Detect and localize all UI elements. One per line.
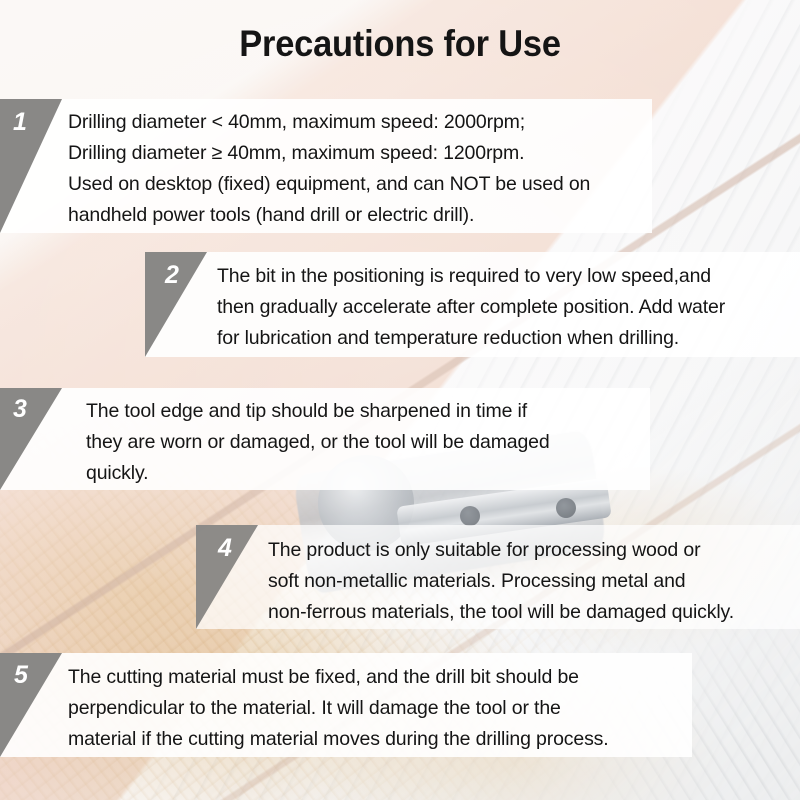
step-number-badge-2: 2 xyxy=(145,252,207,357)
precaution-text-1: Drilling diameter < 40mm, maximum speed:… xyxy=(68,107,646,231)
step-number-label: 5 xyxy=(14,660,28,690)
step-number-label: 1 xyxy=(13,107,27,137)
triangle-shape xyxy=(0,653,62,757)
precaution-text-3: The tool edge and tip should be sharpene… xyxy=(86,396,638,489)
precaution-item-3: 3 The tool edge and tip should be sharpe… xyxy=(0,388,650,490)
precautions-infographic: Precautions for Use 1 Drilling diameter … xyxy=(0,0,800,800)
precaution-item-1: 1 Drilling diameter < 40mm, maximum spee… xyxy=(0,99,652,233)
step-number-badge-3: 3 xyxy=(0,388,62,490)
precaution-item-2: 2 The bit in the positioning is required… xyxy=(145,252,800,357)
precaution-item-4: 4 The product is only suitable for proce… xyxy=(196,525,800,629)
hinge-hole xyxy=(556,498,576,518)
step-number-badge-5: 5 xyxy=(0,653,62,757)
step-number-label: 2 xyxy=(165,260,179,290)
step-number-label: 4 xyxy=(218,533,232,563)
precaution-text-5: The cutting material must be fixed, and … xyxy=(68,662,686,755)
step-number-badge-1: 1 xyxy=(0,99,62,233)
precaution-item-5: 5 The cutting material must be fixed, an… xyxy=(0,653,692,757)
precaution-text-2: The bit in the positioning is required t… xyxy=(217,261,795,354)
triangle-shape xyxy=(0,388,62,490)
step-number-badge-4: 4 xyxy=(196,525,258,629)
triangle-shape xyxy=(0,99,62,233)
hinge-hole xyxy=(460,506,480,526)
step-number-label: 3 xyxy=(13,394,27,424)
precaution-text-4: The product is only suitable for process… xyxy=(268,535,796,628)
page-title: Precautions for Use xyxy=(28,22,772,66)
